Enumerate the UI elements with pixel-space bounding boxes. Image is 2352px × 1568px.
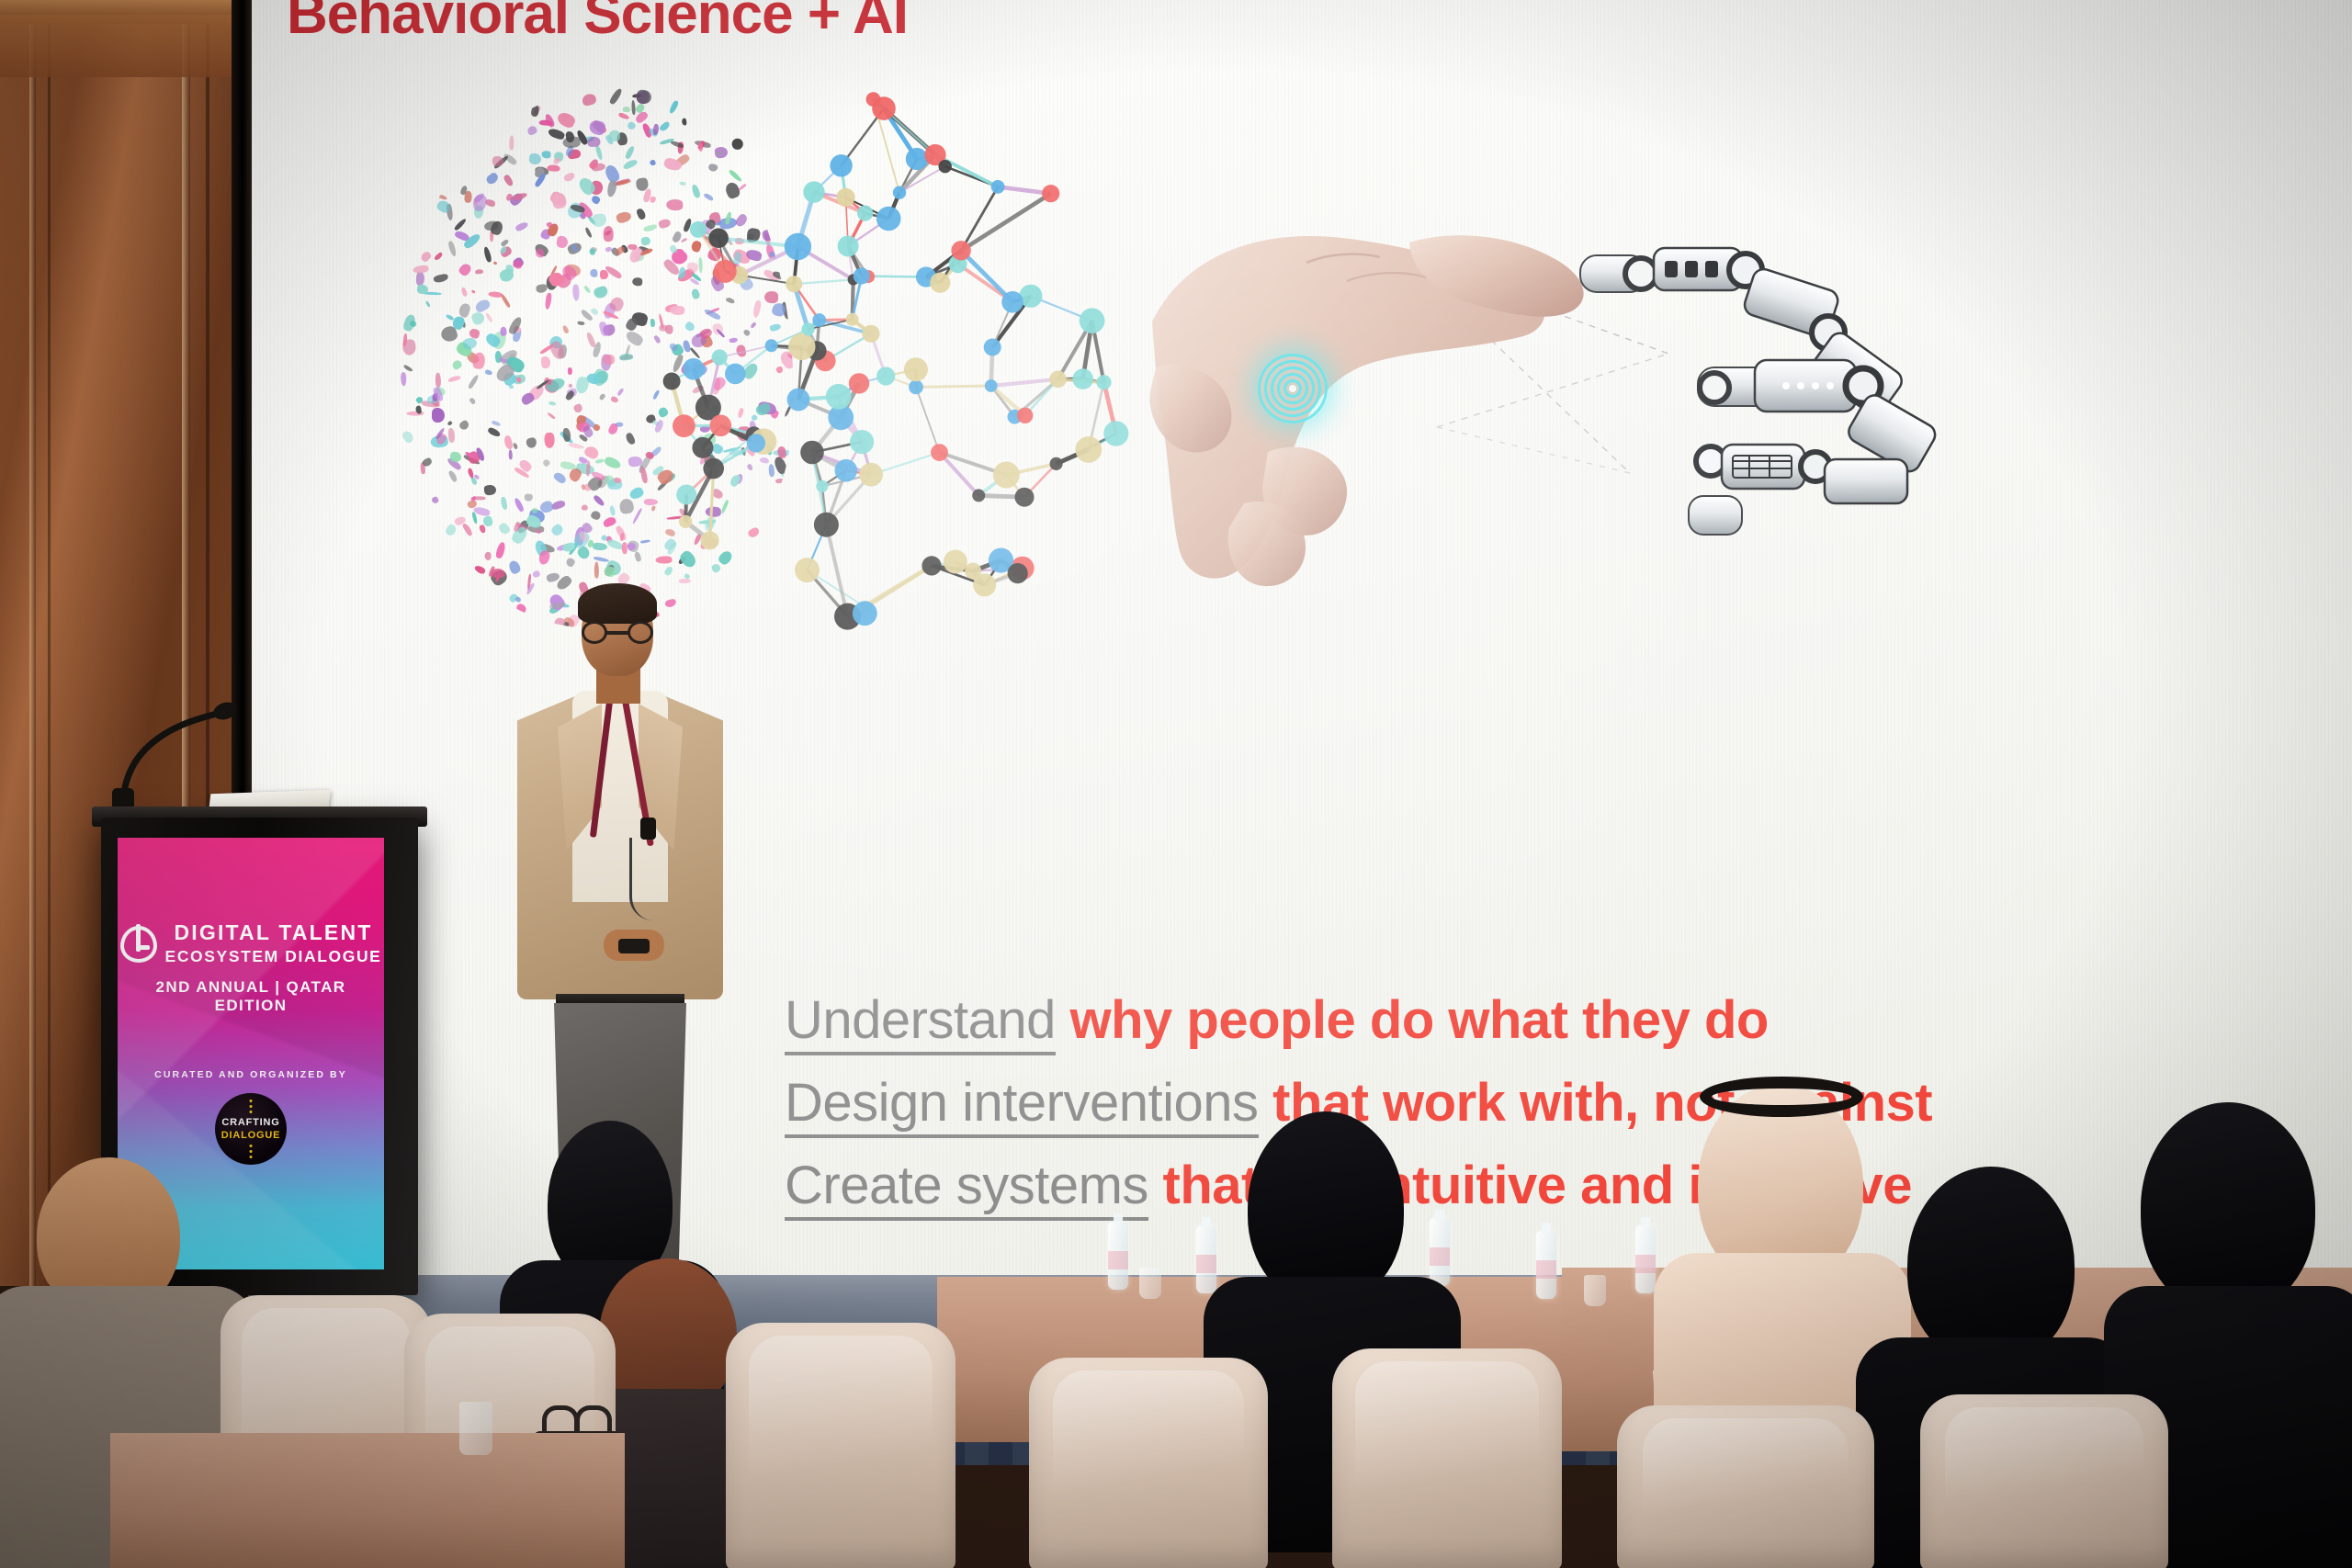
banquet-chair: [1617, 1405, 1874, 1568]
presentation-photo: Behavioral Science + AI: [0, 0, 2352, 1568]
water-bottle: [1536, 1231, 1556, 1299]
brand-line-1: DIGITAL TALENT: [165, 922, 382, 943]
digital-talent-logo-icon: [120, 926, 157, 963]
organizer-line-1: CRAFTING: [221, 1117, 279, 1128]
banquet-chair: [1332, 1348, 1562, 1568]
speaker-hair: [578, 583, 657, 624]
curated-label: CURATED AND ORGANIZED BY: [118, 1069, 384, 1080]
agal-headband-icon: [1700, 1077, 1863, 1117]
slide-title: Behavioral Science + AI: [287, 0, 908, 47]
slide-line: Understand why people do what they do: [785, 979, 2352, 1062]
presentation-clicker: [618, 939, 650, 953]
banquet-chair: [1920, 1394, 2168, 1568]
network-brain-graphic: [647, 92, 1161, 625]
slide-line-lead: Design interventions: [785, 1073, 1259, 1138]
drinking-glass: [1584, 1275, 1606, 1306]
microphone-cord: [629, 838, 653, 920]
banquet-chair: [1029, 1358, 1268, 1568]
banquet-table: [110, 1433, 625, 1568]
slide-line-rest: why people do what they do: [1056, 990, 1769, 1050]
audience-head-hijab: [2141, 1102, 2315, 1314]
human-hand-graphic: [1134, 211, 1648, 597]
drinking-glass: [459, 1402, 492, 1455]
robot-hand-graphic: [1575, 230, 1988, 542]
wall-panel-seam: [29, 0, 36, 1286]
audience-head-hijab: [1248, 1111, 1404, 1304]
audience-area: [0, 1130, 2352, 1568]
brand-line-3: 2ND ANNUAL | QATAR EDITION: [118, 978, 384, 1015]
brand-line-2: ECOSYSTEM DIALOGUE: [165, 947, 382, 966]
event-branding: DIGITAL TALENT ECOSYSTEM DIALOGUE 2ND AN…: [118, 922, 384, 1015]
logo-dots-top: [250, 1100, 253, 1113]
water-bottle: [1108, 1222, 1128, 1290]
banquet-chair: [726, 1323, 955, 1568]
fingerprint-glow-icon: [1258, 354, 1328, 423]
drinking-glass: [1139, 1268, 1161, 1299]
wall-panel-seam: [48, 0, 51, 1286]
eyeglasses-icon: [578, 621, 657, 645]
lapel-microphone-icon: [640, 818, 656, 840]
slide-line-lead: Understand: [785, 990, 1056, 1055]
audience-head-hijab: [1907, 1167, 2075, 1365]
